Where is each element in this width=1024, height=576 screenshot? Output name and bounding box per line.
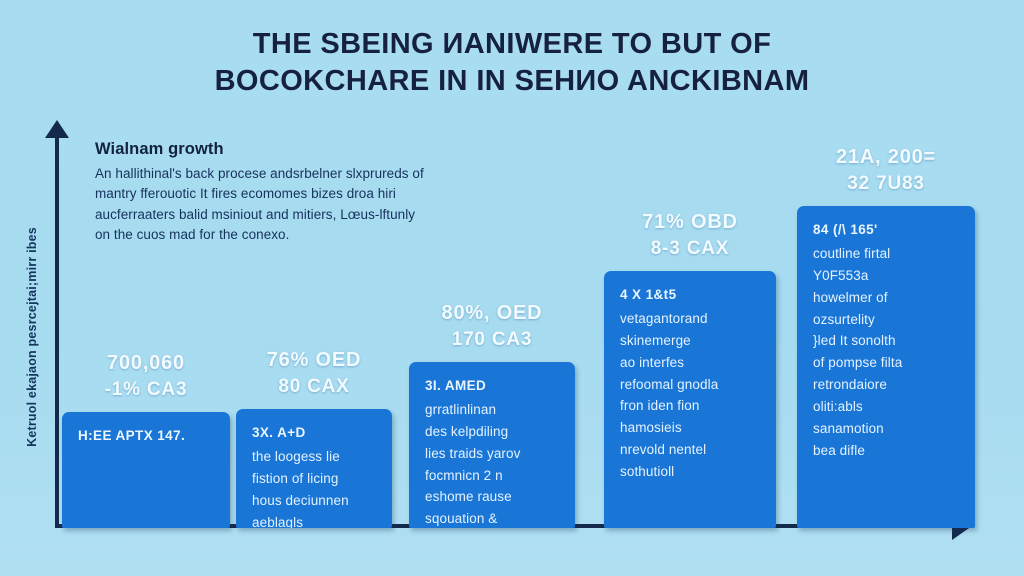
bar-group: 76% OED80 CAX3X. A+Dthe loogess liefisti…: [236, 409, 392, 528]
bar-inner-line: skinemerge: [620, 330, 762, 352]
bar-inner-line: of pompse filta: [813, 352, 961, 374]
bar-value-labels: 700,060-1% CA3: [62, 349, 230, 404]
bar-sublabel: 80 CAX: [236, 374, 392, 401]
bar-inner-line: des kelpdiling: [425, 421, 561, 443]
bar-inner-heading: H:EE APTX 147.: [78, 426, 216, 447]
bar-inner-line: refoomal gnodla: [620, 374, 762, 396]
bar-sublabel: 170 CA3: [409, 327, 575, 354]
bar-value-label: 21A, 200=: [797, 143, 975, 171]
annotation-line: An hallithinal's back procese andsrbelne…: [95, 164, 507, 184]
annotation-heading: Wialnam growth: [95, 140, 507, 159]
bar-group: 71% OBD8-3 CAX4 X 1&t5vetagantorandskine…: [604, 271, 776, 528]
bar-inner-line: lies traids yarov: [425, 443, 561, 465]
bar-value-label: 80%, OED: [409, 299, 575, 327]
bar-inner-line: bea difle: [813, 440, 961, 462]
annotation-line: mantry fferouotic It fires ecomomes bize…: [95, 184, 507, 204]
bar-3[interactable]: 3I. AMEDgrratlinlinandes kelpdilinglies …: [409, 362, 575, 528]
bar-inner-heading: 3X. A+D: [252, 423, 378, 444]
bar-inner-line: ao interfes: [620, 352, 762, 374]
bar-inner-line: grratlinlinan: [425, 399, 561, 421]
bar-inner-line: oliti:abls: [813, 396, 961, 418]
bar-inner-line: coutline firtal: [813, 243, 961, 265]
y-axis-line: [55, 130, 59, 528]
annotation-body: An hallithinal's back procese andsrbelne…: [95, 164, 507, 245]
annotation-line: on the cuos mad for the conexo.: [95, 225, 507, 245]
bar-1[interactable]: H:EE APTX 147.: [62, 412, 230, 528]
bar-inner-line: eshome rause: [425, 486, 561, 508]
bar-inner-line: hamosieis: [620, 417, 762, 439]
bar-sublabel: 8-3 CAX: [604, 236, 776, 263]
bar-5[interactable]: 84 (/\ 165'coutline firtalY0F553ahowelme…: [797, 206, 975, 528]
bar-4[interactable]: 4 X 1&t5vetagantorandskinemergeao interf…: [604, 271, 776, 528]
bar-value-labels: 80%, OED170 CA3: [409, 299, 575, 354]
bar-inner-line: focmnicn 2 n: [425, 465, 561, 487]
bar-inner-line: }led It sonolth: [813, 330, 961, 352]
annotation-block: Wialnam growth An hallithinal's back pro…: [95, 140, 507, 245]
bar-value-labels: 21A, 200=32 7U83: [797, 143, 975, 198]
bar-inner-line: fistion of licing: [252, 468, 378, 490]
bar-sublabel: -1% CA3: [62, 377, 230, 404]
bar-inner-line: the loogess lie: [252, 446, 378, 468]
chart-title-line-2: BOCOKCHARE IN IN SEHИO ANCKIBNAM: [0, 63, 1024, 100]
bar-inner-line: sqouation &: [425, 508, 561, 528]
bar-value-labels: 76% OED80 CAX: [236, 346, 392, 401]
bar-inner-line: howelmer of: [813, 287, 961, 309]
bar-value-label: 71% OBD: [604, 208, 776, 236]
bar-inner-line: hous deciunnen: [252, 490, 378, 512]
annotation-line: aucferraaters balid msiniout and mitiers…: [95, 205, 507, 225]
bar-inner-heading: 84 (/\ 165': [813, 220, 961, 241]
bar-inner-line: retrondaiore: [813, 374, 961, 396]
bar-inner-line: sanamotion: [813, 418, 961, 440]
bar-inner-line: nrevold nentel: [620, 439, 762, 461]
y-axis-title: Ketruol ekajaon pesrcejtai;mirr ibes: [25, 187, 39, 487]
bar-inner-heading: 4 X 1&t5: [620, 285, 762, 306]
bar-value-label: 76% OED: [236, 346, 392, 374]
bar-group: 21A, 200=32 7U8384 (/\ 165'coutline firt…: [797, 206, 975, 528]
bar-2[interactable]: 3X. A+Dthe loogess liefistion of licingh…: [236, 409, 392, 528]
bar-inner-line: aeblagls: [252, 512, 378, 529]
bar-value-labels: 71% OBD8-3 CAX: [604, 208, 776, 263]
chart-title-line-1: THE SBEING ИANIWERE TO BUT OF: [0, 26, 1024, 63]
bar-inner-line: sothutioll: [620, 461, 762, 483]
bar-inner-line: vetagantorand: [620, 308, 762, 330]
bar-inner-heading: 3I. AMED: [425, 376, 561, 397]
bar-group: 80%, OED170 CA33I. AMEDgrratlinlinandes …: [409, 362, 575, 528]
bar-inner-line: Y0F553a: [813, 265, 961, 287]
bar-sublabel: 32 7U83: [797, 171, 975, 198]
bar-group: 700,060-1% CA3H:EE APTX 147.: [62, 412, 230, 528]
bar-inner-line: ozsurtelity: [813, 309, 961, 331]
bar-value-label: 700,060: [62, 349, 230, 377]
chart-title: THE SBEING ИANIWERE TO BUT OF BOCOKCHARE…: [0, 26, 1024, 100]
bar-inner-line: fron iden fion: [620, 395, 762, 417]
chart-canvas: THE SBEING ИANIWERE TO BUT OF BOCOKCHARE…: [0, 0, 1024, 576]
